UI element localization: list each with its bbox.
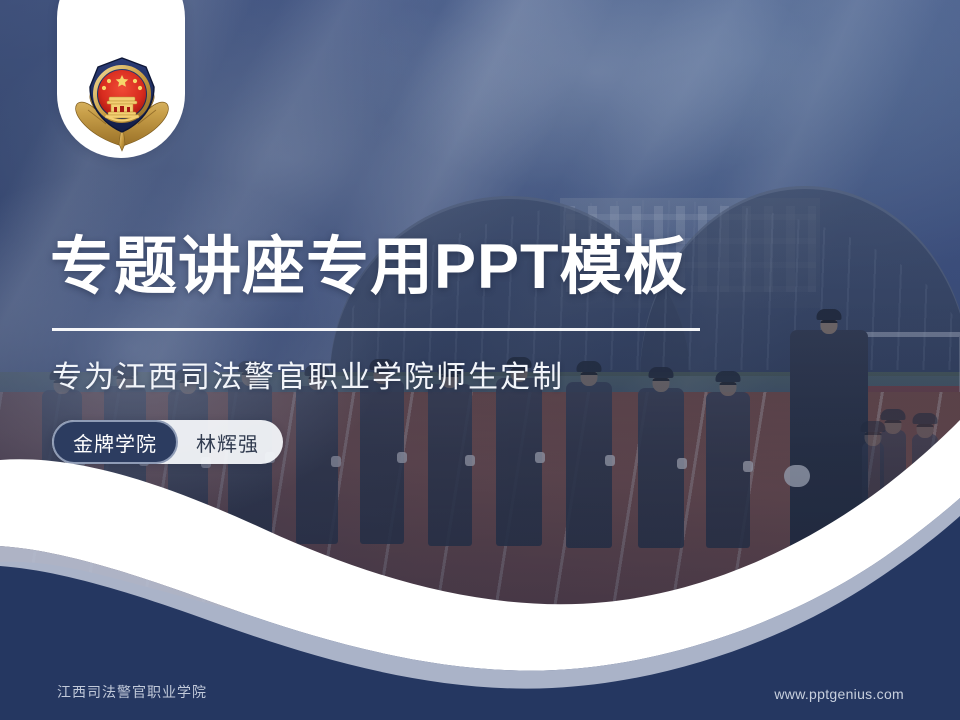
- slide-subtitle: 专为江西司法警官职业学院师生定制: [52, 352, 564, 396]
- tag-label-institute: 金牌学院: [52, 420, 178, 464]
- title-divider: [52, 328, 700, 331]
- credit-pill: 金牌学院 林辉强: [52, 420, 283, 464]
- presentation-title-slide: 专题讲座专用PPT模板 专为江西司法警官职业学院师生定制 金牌学院 林辉强 江西…: [0, 0, 960, 720]
- footer-website: www.pptgenius.com: [774, 686, 904, 702]
- china-police-emblem-icon: [68, 50, 176, 154]
- slide-title: 专题讲座专用PPT模板: [50, 236, 688, 299]
- tag-label-author: 林辉强: [178, 420, 283, 464]
- footer-institution: 江西司法警官职业学院: [57, 682, 207, 702]
